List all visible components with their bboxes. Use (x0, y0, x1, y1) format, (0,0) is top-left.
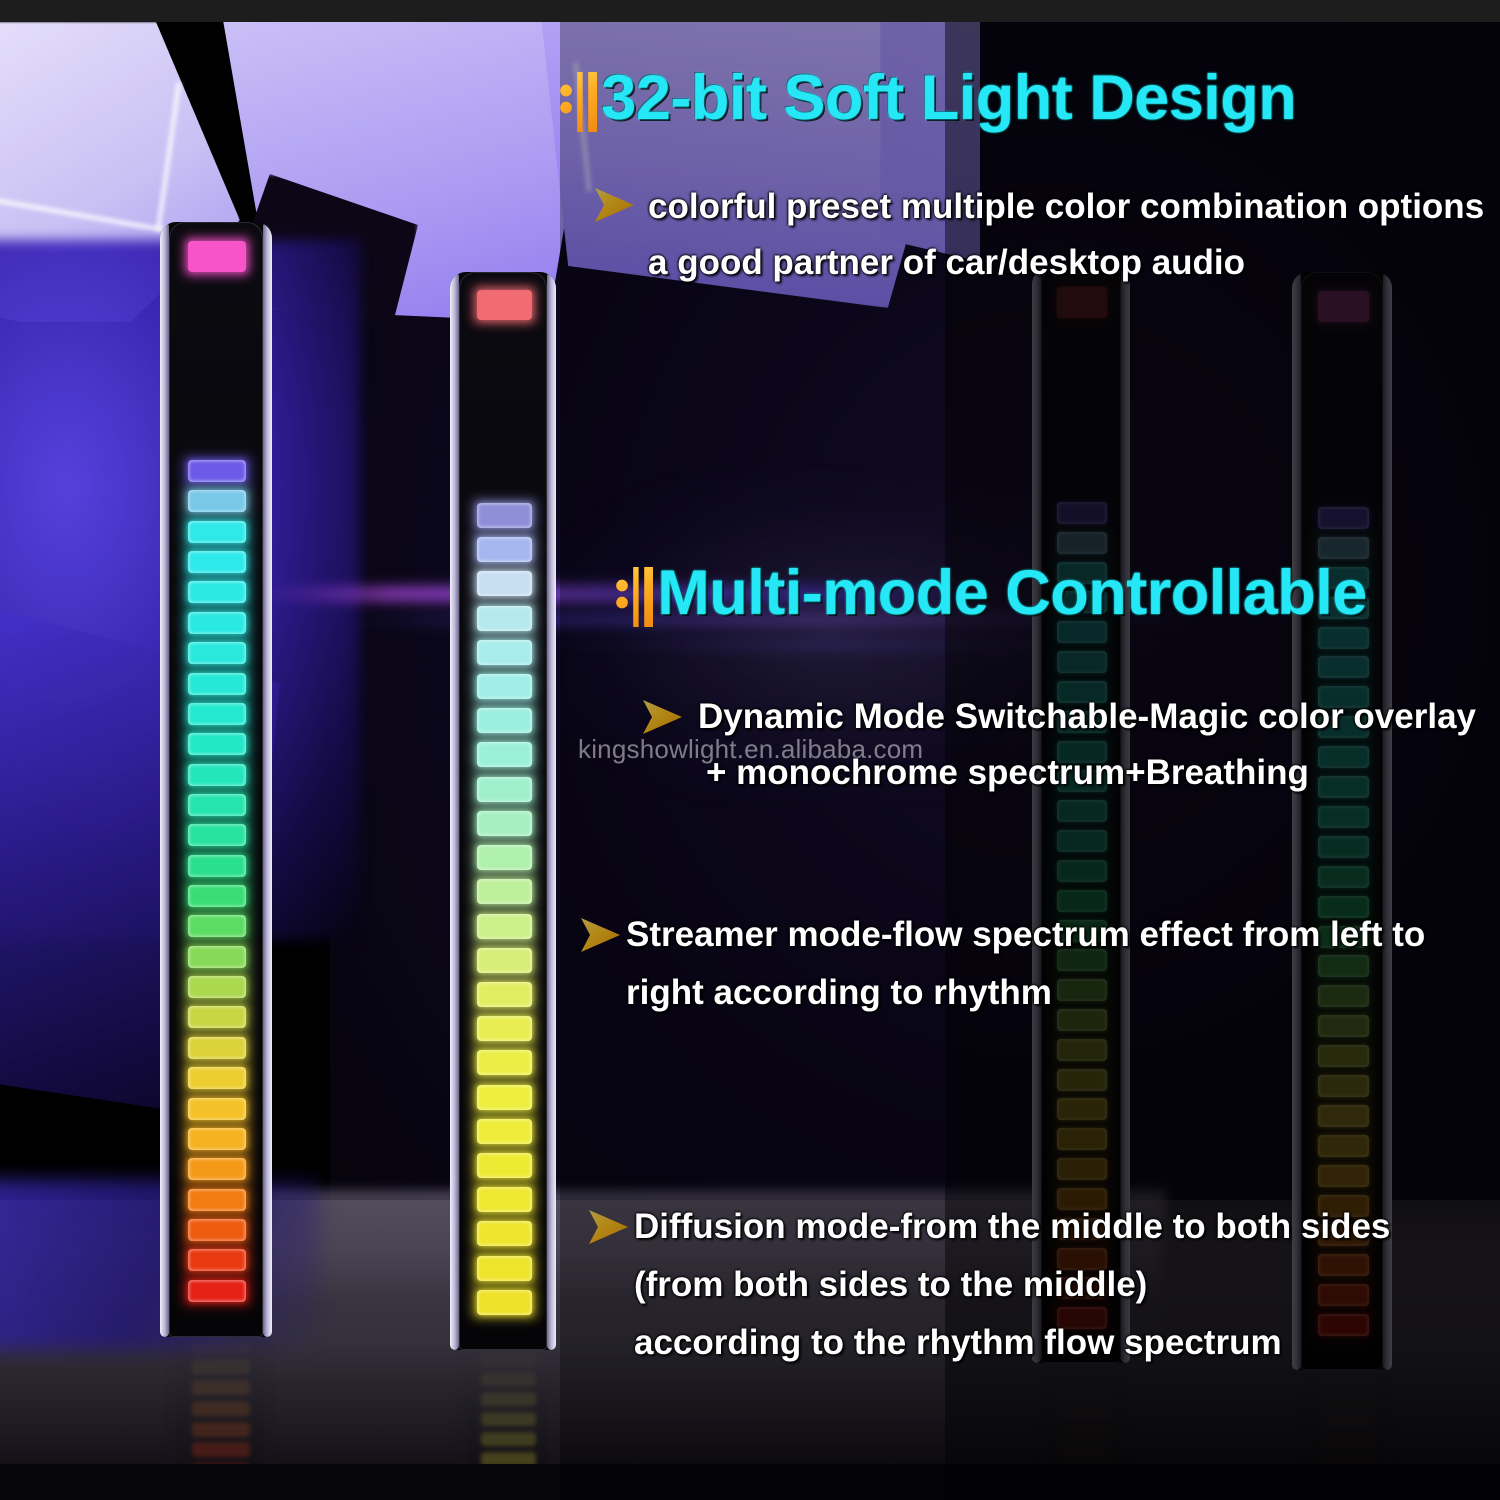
product-marketing-image: 𝄇32-bit Soft Light Design colorful prese… (0, 0, 1500, 1500)
led-segment (477, 1290, 532, 1315)
led-segment (188, 824, 246, 846)
bar-body (160, 222, 272, 1337)
led-segment (477, 674, 532, 699)
bullet-line-streamer-mode-cont: right according to rhythm (626, 966, 1052, 1019)
led-segment (477, 571, 532, 596)
led-bar-front-right (450, 272, 556, 1350)
led-segment (477, 1187, 532, 1212)
led-segment (477, 1016, 532, 1041)
bar-face (169, 222, 263, 1337)
led-segment (188, 733, 246, 755)
led-segment (188, 1189, 246, 1211)
led-segment (188, 581, 246, 603)
led-segment (188, 976, 246, 998)
top-letterbox-bar (0, 0, 1500, 22)
led-segment (477, 1050, 532, 1075)
led-segment (188, 855, 246, 877)
led-segment (188, 1037, 246, 1059)
led-segment-reflection (192, 1380, 250, 1395)
led-segment (188, 673, 246, 695)
led-segment (477, 948, 532, 973)
led-segment-reflection (192, 1359, 250, 1374)
led-segment (477, 777, 532, 802)
bar-edge-right (263, 222, 272, 1337)
led-segment (188, 551, 246, 573)
led-segment (188, 915, 246, 937)
led-segment-reflection (481, 1372, 536, 1386)
led-segment (188, 885, 246, 907)
led-segment (477, 503, 532, 528)
bullet-line-colorful-preset: colorful preset multiple color combinati… (648, 180, 1484, 233)
led-segment (188, 764, 246, 786)
bass-clef-icon: 𝄇 (556, 72, 597, 132)
led-segment (188, 1280, 246, 1302)
heading-text: 32-bit Soft Light Design (601, 63, 1296, 133)
bar-face-reflection (173, 1337, 267, 1482)
bullet-line-diffusion-mode-cont: (from both sides to the middle) (634, 1258, 1147, 1311)
bullet-line-good-partner: a good partner of car/desktop audio (648, 236, 1245, 289)
bar-edge-left (160, 222, 169, 1337)
led-segment (188, 703, 246, 725)
led-segment (188, 1067, 246, 1089)
led-segment (188, 642, 246, 664)
led-segment (477, 640, 532, 665)
led-segment (477, 606, 532, 631)
led-segment-reflection (481, 1392, 536, 1406)
bar-edge-left (450, 272, 459, 1350)
led-segment (477, 982, 532, 1007)
led-segment (477, 1153, 532, 1178)
led-segment (477, 1256, 532, 1281)
bass-clef-icon: 𝄇 (612, 567, 653, 627)
led-segment (188, 460, 246, 482)
bullet-line-monochrome-spectrum: + monochrome spectrum+Breathing (706, 746, 1309, 799)
led-segment (188, 1098, 246, 1120)
bar-body (450, 272, 556, 1350)
led-segment (188, 1249, 246, 1271)
heading-soft-light-design: 𝄇32-bit Soft Light Design (556, 62, 1296, 134)
led-segment-reflection (481, 1412, 536, 1426)
led-segment-reflection (192, 1401, 250, 1416)
led-segment (477, 1085, 532, 1110)
led-segment (477, 537, 532, 562)
led-segment (188, 612, 246, 634)
led-segment-reflection (192, 1442, 250, 1457)
led-segment-reflection (481, 1432, 536, 1446)
led-segment (477, 879, 532, 904)
led-segment-reflection (481, 1352, 536, 1366)
led-segment (188, 794, 246, 816)
bar-face (459, 272, 547, 1350)
bullet-line-dynamic-mode: Dynamic Mode Switchable-Magic color over… (698, 690, 1476, 743)
led-indicator-top (188, 241, 246, 272)
led-bar-front-left-reflection (164, 1337, 276, 1482)
led-segment (477, 914, 532, 939)
led-segment-reflection (192, 1339, 250, 1354)
led-segment (477, 811, 532, 836)
led-segment (188, 521, 246, 543)
heading-multi-mode-controllable: 𝄇Multi-mode Controllable (612, 557, 1367, 629)
led-segment (188, 1006, 246, 1028)
led-segment (477, 742, 532, 767)
led-segment (477, 845, 532, 870)
bar-body-reflection (164, 1337, 276, 1482)
led-segment (188, 1219, 246, 1241)
bullet-line-streamer-mode: Streamer mode-flow spectrum effect from … (626, 908, 1425, 961)
led-segment (477, 1119, 532, 1144)
led-segment-reflection (192, 1422, 250, 1437)
heading-text: Multi-mode Controllable (657, 558, 1366, 628)
led-indicator-top (477, 290, 532, 320)
led-segment (188, 490, 246, 512)
led-segment (188, 1158, 246, 1180)
bar-edge-right (547, 272, 556, 1350)
led-segment (477, 1221, 532, 1246)
led-segment (477, 708, 532, 733)
led-segment (188, 1128, 246, 1150)
bullet-line-diffusion-mode-cont2: according to the rhythm flow spectrum (634, 1316, 1282, 1369)
led-bar-front-left (160, 222, 272, 1337)
led-segment (188, 946, 246, 968)
bullet-line-diffusion-mode: Diffusion mode-from the middle to both s… (634, 1200, 1390, 1253)
